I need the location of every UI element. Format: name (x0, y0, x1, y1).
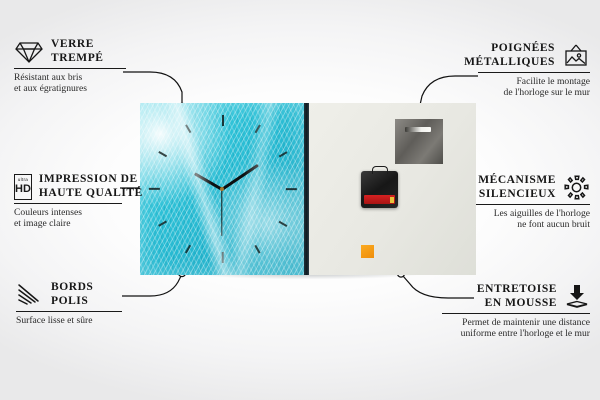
clock-minute-hand (221, 164, 258, 190)
feature-sub-line1: Facilite le montage (478, 76, 590, 87)
feature-sub-line2: ne font aucun bruit (476, 219, 590, 230)
feature-rule (476, 204, 590, 205)
clock-tick (158, 151, 223, 189)
feature-entretoise-en-mousse: ENTRETOISE EN MOUSSE Permet de maintenir… (442, 283, 590, 340)
feature-title-line2: SILENCIEUX (478, 188, 556, 202)
feature-verre-trempe: VERRE TREMPÉ Résistant aux bris et aux é… (14, 38, 126, 95)
feature-title-line1: ENTRETOISE (477, 283, 557, 297)
clock-tick (185, 124, 223, 189)
glass-clock-back (309, 103, 476, 275)
clock-tick (222, 115, 224, 189)
feature-sub-line2: et image claire (14, 218, 122, 229)
feature-title-line1: VERRE (51, 38, 104, 52)
feature-rule (14, 68, 126, 69)
feature-title-line2: TREMPÉ (51, 52, 104, 66)
clock-hour-hand (194, 172, 223, 190)
ultra-hd-badge-icon: ultra HD (14, 174, 32, 200)
clock-tick (222, 189, 260, 254)
clock-tick (185, 189, 223, 254)
hd-badge-main-text: HD (15, 184, 31, 195)
feature-mecanisme-silencieux: MÉCANISME SILENCIEUX Les aiguille (476, 174, 590, 231)
product-illustration (140, 103, 476, 275)
battery (364, 195, 395, 204)
feature-rule (442, 313, 590, 314)
clock-tick (222, 151, 287, 189)
gear-icon (563, 174, 590, 201)
metal-bracket (395, 119, 443, 164)
glass-clock-face-front (140, 103, 304, 275)
feature-sub-line1: Permet de maintenir une distance (442, 317, 590, 328)
clock-tick (149, 188, 223, 190)
feature-sub-line2: uniforme entre l'horloge et le mur (442, 328, 590, 339)
clock-second-hand (221, 189, 222, 236)
feature-sub-line2: et aux égratignures (14, 83, 126, 94)
clock-tick (222, 124, 260, 189)
feature-sub-line1: Surface lisse et sûre (16, 315, 122, 326)
clock-tick (223, 188, 297, 190)
clock-tick (222, 188, 287, 226)
feature-title-line2: MÉTALLIQUES (464, 56, 555, 70)
feature-title-line2: HAUTE QUALITÉ (39, 187, 143, 201)
wall-mount-frame-icon (562, 43, 590, 69)
feature-sub-line1: Couleurs intenses (14, 207, 122, 218)
feature-rule (478, 72, 590, 73)
clock-hand-hub (220, 187, 225, 192)
feature-impression-haute-qualite: ultra HD IMPRESSION DE HAUTE QUALITÉ Cou… (14, 173, 122, 230)
feature-title-line2: POLIS (51, 295, 93, 309)
infographic-canvas: VERRE TREMPÉ Résistant aux bris et aux é… (0, 0, 600, 400)
clock-tick (222, 189, 224, 263)
feature-title-line1: POIGNÉES (464, 42, 555, 56)
diamond-icon (14, 39, 44, 65)
feature-poignees-metalliques: POIGNÉES MÉTALLIQUES Facilite le montage… (478, 42, 590, 99)
foam-spacer (361, 245, 374, 258)
feature-title-line1: MÉCANISME (478, 174, 556, 188)
feature-sub-line1: Les aiguilles de l'horloge (476, 208, 590, 219)
feature-sub-line1: Résistant aux bris (14, 72, 126, 83)
clock-mechanism (361, 171, 398, 208)
feature-rule (14, 203, 122, 204)
foam-spacer-arrow-icon (564, 284, 590, 310)
mechanism-hanger-tab (372, 166, 388, 174)
clock-dial (162, 115, 282, 263)
feature-rule (16, 311, 122, 312)
feature-title-line2: EN MOUSSE (477, 297, 557, 311)
feature-title-line1: BORDS (51, 281, 93, 295)
polished-edge-lines-icon (16, 282, 44, 307)
clock-tick (158, 188, 223, 226)
feature-bords-polis: BORDS POLIS Surface lisse et sûre (16, 281, 122, 326)
feature-title-line1: IMPRESSION DE (39, 173, 143, 187)
feature-sub-line2: de l'horloge sur le mur (478, 87, 590, 98)
